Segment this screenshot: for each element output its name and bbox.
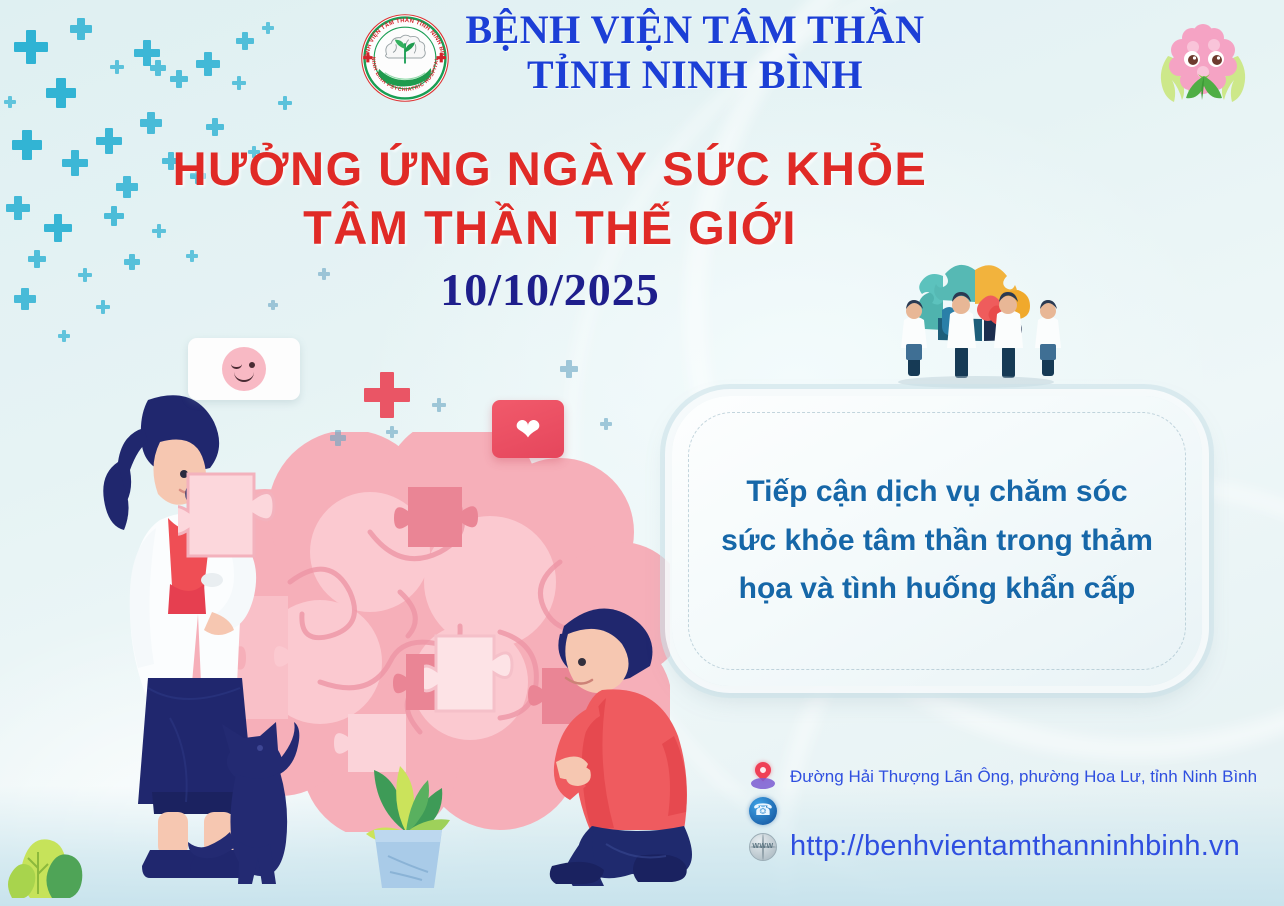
decorative-cross-icon bbox=[330, 430, 346, 446]
campaign-heading-line-2: TÂM THẦN THẾ GIỚI bbox=[0, 199, 1100, 258]
decorative-cross-icon bbox=[206, 118, 224, 136]
slogan-inner-frame: Tiếp cận dịch vụ chăm sóc sức khỏe tâm t… bbox=[688, 412, 1186, 670]
hospital-logo-icon: BỆNH VIỆN TÂM THẦN TỈNH NINH BÌNH NINH B… bbox=[359, 12, 451, 104]
phone-row[interactable]: ☎ bbox=[748, 794, 1257, 828]
winking-smiley-icon bbox=[222, 347, 266, 391]
website-row[interactable]: WWW http://benhvientamthanninhbinh.vn bbox=[748, 830, 1257, 863]
poster-canvas: BỆNH VIỆN TÂM THẦN TỈNH NINH BÌNH NINH B… bbox=[0, 0, 1284, 906]
decorative-cross-icon bbox=[432, 398, 446, 412]
globe-www-label: WWW bbox=[750, 843, 776, 850]
red-cross-icon bbox=[364, 372, 410, 418]
website-url[interactable]: http://benhvientamthanninhbinh.vn bbox=[790, 830, 1240, 863]
smiley-open-eye bbox=[249, 362, 255, 368]
decorative-cross-icon bbox=[386, 426, 398, 438]
smiley-mouth bbox=[234, 371, 254, 382]
address-text: Đường Hải Thượng Lãn Ông, phường Hoa Lư,… bbox=[790, 767, 1257, 787]
slogan-panel: Tiếp cận dịch vụ chăm sóc sức khỏe tâm t… bbox=[672, 396, 1202, 686]
phone-icon[interactable]: ☎ bbox=[748, 796, 778, 826]
hospital-name-line-1: BỆNH VIỆN TÂM THẦN bbox=[465, 8, 924, 53]
hospital-name-title: BỆNH VIỆN TÂM THẦN TỈNH NINH BÌNH bbox=[465, 8, 924, 98]
decorative-cross-icon bbox=[140, 112, 162, 134]
heart-badge: ❤ bbox=[492, 400, 564, 458]
hospital-name-line-2: TỈNH NINH BÌNH bbox=[465, 53, 924, 98]
campaign-heading-block: HƯỞNG ỨNG NGÀY SỨC KHỎE TÂM THẦN THẾ GIỚ… bbox=[0, 140, 1100, 319]
heart-icon: ❤ bbox=[515, 414, 541, 445]
puzzle-piece-man bbox=[424, 626, 534, 726]
slogan-text: Tiếp cận dịch vụ chăm sóc sức khỏe tâm t… bbox=[715, 468, 1159, 614]
decorative-cross-icon bbox=[600, 418, 612, 430]
puzzle-piece-doctor bbox=[178, 462, 298, 572]
campaign-heading-line-1: HƯỞNG ỨNG NGÀY SỨC KHỎE bbox=[0, 140, 1100, 199]
smiley-wink-eye bbox=[231, 364, 242, 369]
campaign-date: 10/10/2025 bbox=[0, 260, 1100, 320]
cat-silhouette-illustration bbox=[186, 718, 306, 890]
decorative-cross-icon bbox=[58, 330, 70, 342]
winking-smiley-card bbox=[188, 338, 300, 400]
address-row: Đường Hải Thượng Lãn Ông, phường Hoa Lư,… bbox=[748, 762, 1257, 792]
potted-plant-illustration bbox=[352, 736, 462, 892]
globe-www-icon: WWW bbox=[748, 832, 778, 862]
decorative-cross-icon bbox=[560, 360, 578, 378]
map-pin-icon bbox=[748, 762, 778, 792]
poster-header: BỆNH VIỆN TÂM THẦN TỈNH NINH BÌNH NINH B… bbox=[0, 8, 1284, 104]
contact-block: Đường Hải Thượng Lãn Ông, phường Hoa Lư,… bbox=[748, 762, 1257, 865]
